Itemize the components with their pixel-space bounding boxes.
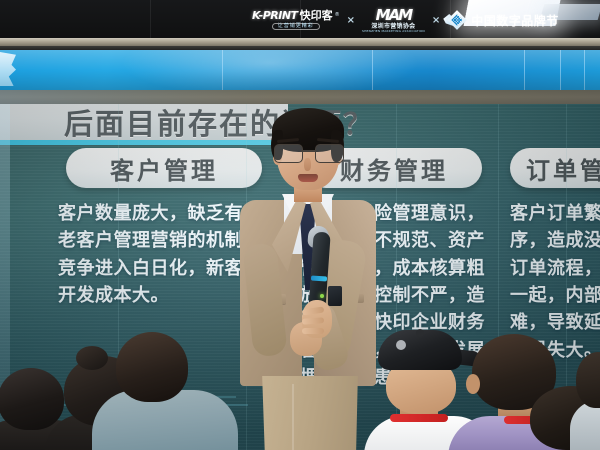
- presenter: [232, 108, 382, 450]
- microphone-led-icon: [320, 294, 324, 298]
- lanyard-badge: [328, 286, 342, 306]
- trademark-icon: ®: [335, 13, 340, 18]
- kprint-brand-cn: 快印客: [300, 10, 333, 21]
- mam-glyph-icon: MAM: [376, 8, 411, 23]
- separator-x-icon-2: ×: [432, 15, 440, 26]
- finger: [302, 328, 324, 334]
- separator-x-icon: ×: [347, 15, 355, 26]
- china-digital-brand-festival-logo: 中国数字品牌节: [447, 10, 559, 30]
- sma-brand-en: SHENZHEN MARKETING ASSOCIATION: [362, 30, 425, 33]
- audience-member-7: [576, 352, 600, 450]
- cap-logo-icon: [396, 340, 406, 350]
- conference-photo: K-PRINT 快印客 ® 让营销更精彩 × MAM 深圳市营销协会 SHENZ…: [0, 0, 600, 450]
- cdbf-brand-cn: 中国数字品牌节: [471, 12, 559, 29]
- sponsor-logo-row: K-PRINT 快印客 ® 让营销更精彩 × MAM 深圳市营销协会 SHENZ…: [252, 4, 559, 36]
- red-lanyard: [390, 414, 448, 422]
- kprint-wordmark: K-PRINT: [252, 10, 298, 21]
- sponsor-banner: [0, 50, 600, 90]
- audience-member-3: [92, 332, 224, 450]
- nose: [304, 158, 311, 171]
- suit-trousers: [258, 376, 362, 450]
- kprint-logo: K-PRINT 快印客 ® 让营销更精彩: [252, 10, 340, 30]
- kprint-tagline: 让营销更精彩: [272, 23, 320, 30]
- banner-glow: [120, 50, 420, 90]
- microphone-ring: [311, 275, 327, 281]
- trouser-crease: [292, 384, 294, 450]
- mouth: [298, 174, 318, 182]
- diamond-seal-icon: [447, 10, 467, 30]
- shenzhen-marketing-association-logo: MAM 深圳市营销协会 SHENZHEN MARKETING ASSOCIATI…: [362, 8, 425, 33]
